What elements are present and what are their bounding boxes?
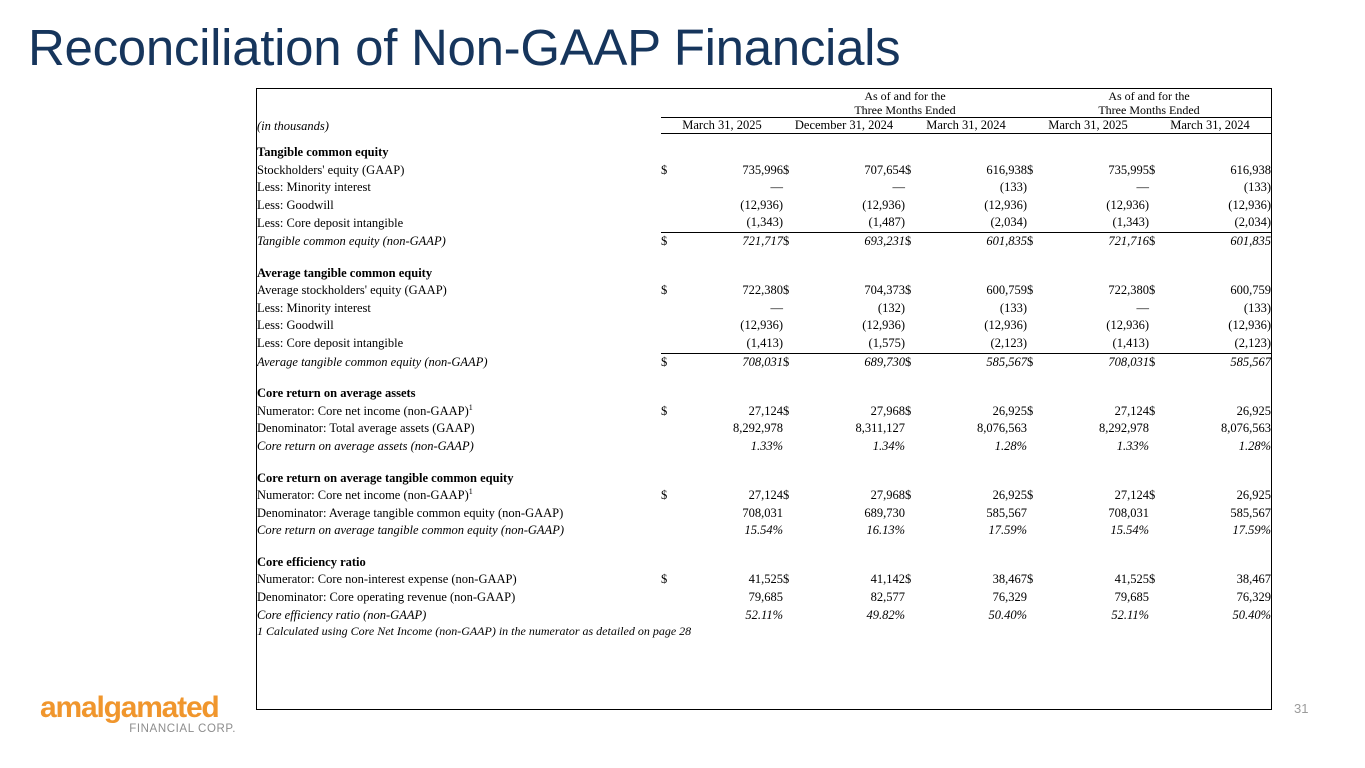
column-header-2: March 31, 2024 bbox=[905, 118, 1027, 134]
currency-symbol bbox=[1027, 522, 1053, 540]
cell-value: 27,124 bbox=[1053, 403, 1149, 421]
currency-symbol bbox=[783, 607, 809, 625]
currency-symbol bbox=[783, 589, 809, 607]
currency-symbol bbox=[661, 179, 687, 197]
row-label: Denominator: Total average assets (GAAP) bbox=[257, 420, 661, 438]
currency-symbol bbox=[783, 438, 809, 456]
row-label: Core return on average tangible common e… bbox=[257, 522, 661, 540]
currency-symbol: $ bbox=[661, 282, 687, 300]
reconciliation-table-frame: As of and for the Three Months Ended As … bbox=[256, 88, 1272, 710]
currency-symbol bbox=[1149, 300, 1175, 318]
currency-symbol: $ bbox=[1027, 232, 1053, 250]
section-heading: Core return on average tangible common e… bbox=[257, 470, 661, 488]
cell-value: (12,936) bbox=[1053, 197, 1149, 215]
currency-symbol bbox=[905, 197, 931, 215]
currency-symbol bbox=[661, 300, 687, 318]
cell-value: 17.59% bbox=[1175, 522, 1271, 540]
cell-value: — bbox=[1053, 300, 1149, 318]
cell-value: 8,076,563 bbox=[1175, 420, 1271, 438]
currency-symbol bbox=[1027, 179, 1053, 197]
cell-value: (12,936) bbox=[931, 317, 1027, 335]
cell-value: 27,124 bbox=[687, 403, 783, 421]
section-heading-row: Core return on average assets bbox=[257, 385, 1271, 403]
currency-symbol bbox=[1149, 607, 1175, 625]
currency-symbol bbox=[1149, 505, 1175, 523]
cell-value: 722,380 bbox=[1053, 282, 1149, 300]
currency-symbol bbox=[905, 179, 931, 197]
row-label: Denominator: Core operating revenue (non… bbox=[257, 589, 661, 607]
cell-value: (133) bbox=[931, 179, 1027, 197]
table-row: Denominator: Total average assets (GAAP)… bbox=[257, 420, 1271, 438]
currency-symbol bbox=[661, 589, 687, 607]
row-label: Less: Goodwill bbox=[257, 197, 661, 215]
cell-value: 76,329 bbox=[931, 589, 1027, 607]
currency-symbol bbox=[661, 214, 687, 232]
currency-symbol bbox=[1149, 589, 1175, 607]
table-row: Average stockholders' equity (GAAP)$722,… bbox=[257, 282, 1271, 300]
currency-symbol bbox=[1149, 420, 1175, 438]
currency-symbol: $ bbox=[905, 282, 931, 300]
cell-value: 38,467 bbox=[1175, 571, 1271, 589]
cell-value: 8,076,563 bbox=[931, 420, 1027, 438]
cell-value: 708,031 bbox=[1053, 505, 1149, 523]
cell-value: (12,936) bbox=[809, 317, 905, 335]
section-gap bbox=[257, 540, 1271, 554]
table-row: Stockholders' equity (GAAP)$735,996$707,… bbox=[257, 162, 1271, 180]
table-row: Core return on average assets (non-GAAP)… bbox=[257, 438, 1271, 456]
currency-symbol bbox=[905, 335, 931, 353]
cell-value: 708,031 bbox=[1053, 353, 1149, 371]
cell-value: (133) bbox=[1175, 300, 1271, 318]
currency-symbol: $ bbox=[661, 403, 687, 421]
reconciliation-table: As of and for the Three Months Ended As … bbox=[257, 89, 1271, 639]
cell-value: (1,343) bbox=[1053, 214, 1149, 232]
currency-symbol bbox=[783, 197, 809, 215]
currency-symbol bbox=[905, 505, 931, 523]
cell-value: 616,938 bbox=[1175, 162, 1271, 180]
currency-symbol: $ bbox=[905, 162, 931, 180]
cell-value: (2,123) bbox=[931, 335, 1027, 353]
currency-symbol bbox=[1149, 179, 1175, 197]
currency-symbol bbox=[783, 522, 809, 540]
cell-value: 26,925 bbox=[931, 403, 1027, 421]
cell-value: 735,995 bbox=[1053, 162, 1149, 180]
currency-symbol: $ bbox=[661, 353, 687, 371]
logo-wordmark: amalgamated bbox=[40, 692, 240, 723]
currency-symbol: $ bbox=[1149, 571, 1175, 589]
cell-value: 1.28% bbox=[1175, 438, 1271, 456]
row-label: Average tangible common equity (non-GAAP… bbox=[257, 353, 661, 371]
cell-value: (2,034) bbox=[1175, 214, 1271, 232]
currency-symbol bbox=[905, 317, 931, 335]
currency-symbol bbox=[1149, 522, 1175, 540]
cell-value: 735,996 bbox=[687, 162, 783, 180]
cell-value: 8,292,978 bbox=[687, 420, 783, 438]
row-label: Less: Minority interest bbox=[257, 179, 661, 197]
currency-symbol bbox=[1027, 197, 1053, 215]
currency-symbol: $ bbox=[783, 353, 809, 371]
cell-value: (1,575) bbox=[809, 335, 905, 353]
cell-value: (133) bbox=[1175, 179, 1271, 197]
cell-value: 8,292,978 bbox=[1053, 420, 1149, 438]
column-header-3: March 31, 2025 bbox=[1027, 118, 1149, 134]
table-row: Core return on average tangible common e… bbox=[257, 522, 1271, 540]
table-body: Tangible common equityStockholders' equi… bbox=[257, 144, 1271, 639]
table-row: Average tangible common equity (non-GAAP… bbox=[257, 353, 1271, 371]
cell-value: 585,567 bbox=[931, 505, 1027, 523]
row-label: Less: Goodwill bbox=[257, 317, 661, 335]
section-heading: Core return on average assets bbox=[257, 385, 661, 403]
section-heading: Core efficiency ratio bbox=[257, 554, 661, 572]
company-logo: amalgamated FINANCIAL CORP. bbox=[40, 692, 240, 736]
currency-symbol bbox=[1027, 420, 1053, 438]
currency-symbol: $ bbox=[905, 353, 931, 371]
cell-value: 8,311,127 bbox=[809, 420, 905, 438]
currency-symbol bbox=[1027, 214, 1053, 232]
currency-symbol bbox=[905, 589, 931, 607]
currency-symbol bbox=[905, 300, 931, 318]
currency-symbol: $ bbox=[905, 403, 931, 421]
cell-value: 50.40% bbox=[931, 607, 1027, 625]
table-row: Tangible common equity (non-GAAP)$721,71… bbox=[257, 232, 1271, 250]
cell-value: 601,835 bbox=[931, 232, 1027, 250]
section-gap bbox=[257, 371, 1271, 385]
currency-symbol bbox=[905, 420, 931, 438]
section-heading-row: Core return on average tangible common e… bbox=[257, 470, 1271, 488]
column-header-0: March 31, 2025 bbox=[661, 118, 783, 134]
currency-symbol: $ bbox=[1027, 403, 1053, 421]
cell-value: 708,031 bbox=[687, 353, 783, 371]
cell-value: 41,142 bbox=[809, 571, 905, 589]
cell-value: 26,925 bbox=[931, 487, 1027, 505]
cell-value: 693,231 bbox=[809, 232, 905, 250]
cell-value: 26,925 bbox=[1175, 403, 1271, 421]
currency-symbol bbox=[1149, 317, 1175, 335]
currency-symbol bbox=[661, 438, 687, 456]
cell-value: 585,567 bbox=[931, 353, 1027, 371]
cell-value: 27,968 bbox=[809, 487, 905, 505]
currency-symbol bbox=[1149, 335, 1175, 353]
currency-symbol: $ bbox=[905, 487, 931, 505]
table-row: Less: Core deposit intangible(1,343)(1,4… bbox=[257, 214, 1271, 232]
row-label: Denominator: Average tangible common equ… bbox=[257, 505, 661, 523]
cell-value: 1.28% bbox=[931, 438, 1027, 456]
cell-value: 689,730 bbox=[809, 353, 905, 371]
cell-value: 27,124 bbox=[687, 487, 783, 505]
currency-symbol: $ bbox=[783, 282, 809, 300]
currency-symbol: $ bbox=[783, 162, 809, 180]
cell-value: 50.40% bbox=[1175, 607, 1271, 625]
cell-value: 17.59% bbox=[931, 522, 1027, 540]
cell-value: 49.82% bbox=[809, 607, 905, 625]
currency-symbol: $ bbox=[1149, 353, 1175, 371]
cell-value: (12,936) bbox=[1175, 197, 1271, 215]
currency-symbol bbox=[661, 197, 687, 215]
cell-value: — bbox=[809, 179, 905, 197]
currency-symbol bbox=[661, 607, 687, 625]
cell-value: — bbox=[1053, 179, 1149, 197]
currency-symbol bbox=[783, 179, 809, 197]
currency-symbol bbox=[905, 214, 931, 232]
currency-symbol bbox=[1149, 197, 1175, 215]
page-number: 31 bbox=[1294, 701, 1308, 716]
cell-value: (2,123) bbox=[1175, 335, 1271, 353]
cell-value: (132) bbox=[809, 300, 905, 318]
cell-value: 689,730 bbox=[809, 505, 905, 523]
group-header-1: As of and for the Three Months Ended bbox=[783, 89, 1027, 118]
table-row: Denominator: Core operating revenue (non… bbox=[257, 589, 1271, 607]
column-header-row: (in thousands) March 31, 2025 December 3… bbox=[257, 118, 1271, 134]
currency-symbol: $ bbox=[1027, 571, 1053, 589]
row-label: Numerator: Core net income (non-GAAP)1 bbox=[257, 487, 661, 505]
currency-symbol: $ bbox=[1149, 162, 1175, 180]
row-label: Less: Core deposit intangible bbox=[257, 214, 661, 232]
currency-symbol bbox=[783, 505, 809, 523]
cell-value: 1.34% bbox=[809, 438, 905, 456]
currency-symbol: $ bbox=[661, 232, 687, 250]
cell-value: (1,343) bbox=[687, 214, 783, 232]
page-title: Reconciliation of Non-GAAP Financials bbox=[28, 18, 900, 78]
section-heading: Average tangible common equity bbox=[257, 265, 661, 283]
currency-symbol: $ bbox=[661, 487, 687, 505]
cell-value: (12,936) bbox=[1175, 317, 1271, 335]
currency-symbol: $ bbox=[905, 571, 931, 589]
table-row: Less: Minority interest—(132)(133)—(133) bbox=[257, 300, 1271, 318]
row-label: Numerator: Core net income (non-GAAP)1 bbox=[257, 403, 661, 421]
currency-symbol: $ bbox=[661, 162, 687, 180]
currency-symbol bbox=[783, 300, 809, 318]
cell-value: (12,936) bbox=[687, 197, 783, 215]
row-label: Core efficiency ratio (non-GAAP) bbox=[257, 607, 661, 625]
cell-value: 16.13% bbox=[809, 522, 905, 540]
row-label: Numerator: Core non-interest expense (no… bbox=[257, 571, 661, 589]
column-header-1: December 31, 2024 bbox=[783, 118, 905, 134]
cell-value: 600,759 bbox=[931, 282, 1027, 300]
currency-symbol: $ bbox=[783, 487, 809, 505]
cell-value: 52.11% bbox=[687, 607, 783, 625]
row-label: Less: Core deposit intangible bbox=[257, 335, 661, 353]
currency-symbol bbox=[783, 335, 809, 353]
row-label: Average stockholders' equity (GAAP) bbox=[257, 282, 661, 300]
table-row: Numerator: Core non-interest expense (no… bbox=[257, 571, 1271, 589]
cell-value: 15.54% bbox=[687, 522, 783, 540]
row-label: Stockholders' equity (GAAP) bbox=[257, 162, 661, 180]
section-gap bbox=[257, 456, 1271, 470]
cell-value: 52.11% bbox=[1053, 607, 1149, 625]
currency-symbol: $ bbox=[661, 571, 687, 589]
currency-symbol bbox=[1149, 214, 1175, 232]
table-row: Denominator: Average tangible common equ… bbox=[257, 505, 1271, 523]
currency-symbol: $ bbox=[783, 232, 809, 250]
cell-value: (1,413) bbox=[1053, 335, 1149, 353]
currency-symbol: $ bbox=[783, 571, 809, 589]
table-header: As of and for the Three Months Ended As … bbox=[257, 89, 1271, 144]
currency-symbol bbox=[1027, 300, 1053, 318]
currency-symbol: $ bbox=[1149, 487, 1175, 505]
currency-symbol: $ bbox=[1027, 353, 1053, 371]
currency-symbol: $ bbox=[1027, 487, 1053, 505]
currency-symbol: $ bbox=[1027, 282, 1053, 300]
row-label: Core return on average assets (non-GAAP) bbox=[257, 438, 661, 456]
cell-value: — bbox=[687, 300, 783, 318]
currency-symbol: $ bbox=[1149, 232, 1175, 250]
cell-value: 27,968 bbox=[809, 403, 905, 421]
cell-value: 585,567 bbox=[1175, 353, 1271, 371]
cell-value: — bbox=[687, 179, 783, 197]
table-row: Less: Goodwill(12,936)(12,936)(12,936)(1… bbox=[257, 317, 1271, 335]
currency-symbol bbox=[905, 607, 931, 625]
footnote-row: 1 Calculated using Core Net Income (non-… bbox=[257, 624, 1271, 639]
section-heading-row: Tangible common equity bbox=[257, 144, 1271, 162]
cell-value: (1,487) bbox=[809, 214, 905, 232]
cell-value: 707,654 bbox=[809, 162, 905, 180]
cell-value: 26,925 bbox=[1175, 487, 1271, 505]
currency-symbol bbox=[1149, 438, 1175, 456]
header-spacer bbox=[257, 134, 1271, 145]
cell-value: 15.54% bbox=[1053, 522, 1149, 540]
table-row: Numerator: Core net income (non-GAAP)1$2… bbox=[257, 403, 1271, 421]
section-heading-row: Average tangible common equity bbox=[257, 265, 1271, 283]
cell-value: 704,373 bbox=[809, 282, 905, 300]
cell-value: (2,034) bbox=[931, 214, 1027, 232]
row-label: Tangible common equity (non-GAAP) bbox=[257, 232, 661, 250]
cell-value: 601,835 bbox=[1175, 232, 1271, 250]
cell-value: 82,577 bbox=[809, 589, 905, 607]
cell-value: (12,936) bbox=[1053, 317, 1149, 335]
currency-symbol bbox=[1027, 589, 1053, 607]
cell-value: 41,525 bbox=[687, 571, 783, 589]
currency-symbol: $ bbox=[1027, 162, 1053, 180]
currency-symbol bbox=[1027, 607, 1053, 625]
table-row: Less: Minority interest——(133)—(133) bbox=[257, 179, 1271, 197]
cell-value: 600,759 bbox=[1175, 282, 1271, 300]
currency-symbol: $ bbox=[905, 232, 931, 250]
section-heading-row: Core efficiency ratio bbox=[257, 554, 1271, 572]
cell-value: (1,413) bbox=[687, 335, 783, 353]
cell-value: 721,717 bbox=[687, 232, 783, 250]
cell-value: 79,685 bbox=[1053, 589, 1149, 607]
row-label: Less: Minority interest bbox=[257, 300, 661, 318]
cell-value: 76,329 bbox=[1175, 589, 1271, 607]
currency-symbol bbox=[905, 438, 931, 456]
currency-symbol bbox=[1027, 438, 1053, 456]
currency-symbol bbox=[1027, 317, 1053, 335]
currency-symbol: $ bbox=[783, 403, 809, 421]
currency-symbol bbox=[1027, 335, 1053, 353]
cell-value: 27,124 bbox=[1053, 487, 1149, 505]
table-row: Numerator: Core net income (non-GAAP)1$2… bbox=[257, 487, 1271, 505]
cell-value: 585,567 bbox=[1175, 505, 1271, 523]
cell-value: (133) bbox=[931, 300, 1027, 318]
section-gap bbox=[257, 251, 1271, 265]
currency-symbol bbox=[661, 505, 687, 523]
group-header-2: As of and for the Three Months Ended bbox=[1027, 89, 1271, 118]
footnote: 1 Calculated using Core Net Income (non-… bbox=[257, 624, 1271, 639]
currency-symbol: $ bbox=[1149, 282, 1175, 300]
cell-value: 38,467 bbox=[931, 571, 1027, 589]
group-header-row: As of and for the Three Months Ended As … bbox=[257, 89, 1271, 118]
currency-symbol bbox=[783, 420, 809, 438]
cell-value: (12,936) bbox=[931, 197, 1027, 215]
cell-value: 1.33% bbox=[1053, 438, 1149, 456]
cell-value: 1.33% bbox=[687, 438, 783, 456]
cell-value: 79,685 bbox=[687, 589, 783, 607]
cell-value: (12,936) bbox=[809, 197, 905, 215]
currency-symbol bbox=[661, 317, 687, 335]
cell-value: 721,716 bbox=[1053, 232, 1149, 250]
currency-symbol bbox=[661, 420, 687, 438]
cell-value: (12,936) bbox=[687, 317, 783, 335]
currency-symbol bbox=[783, 317, 809, 335]
currency-symbol bbox=[905, 522, 931, 540]
cell-value: 708,031 bbox=[687, 505, 783, 523]
table-row: Core efficiency ratio (non-GAAP)52.11%49… bbox=[257, 607, 1271, 625]
units-label: (in thousands) bbox=[257, 118, 661, 134]
cell-value: 722,380 bbox=[687, 282, 783, 300]
column-header-4: March 31, 2024 bbox=[1149, 118, 1271, 134]
table-row: Less: Core deposit intangible(1,413)(1,5… bbox=[257, 335, 1271, 353]
currency-symbol bbox=[1027, 505, 1053, 523]
logo-tagline: FINANCIAL CORP. bbox=[40, 723, 236, 736]
currency-symbol bbox=[661, 522, 687, 540]
cell-value: 616,938 bbox=[931, 162, 1027, 180]
currency-symbol bbox=[783, 214, 809, 232]
currency-symbol: $ bbox=[1149, 403, 1175, 421]
table-row: Less: Goodwill(12,936)(12,936)(12,936)(1… bbox=[257, 197, 1271, 215]
section-heading: Tangible common equity bbox=[257, 144, 661, 162]
currency-symbol bbox=[661, 335, 687, 353]
cell-value: 41,525 bbox=[1053, 571, 1149, 589]
